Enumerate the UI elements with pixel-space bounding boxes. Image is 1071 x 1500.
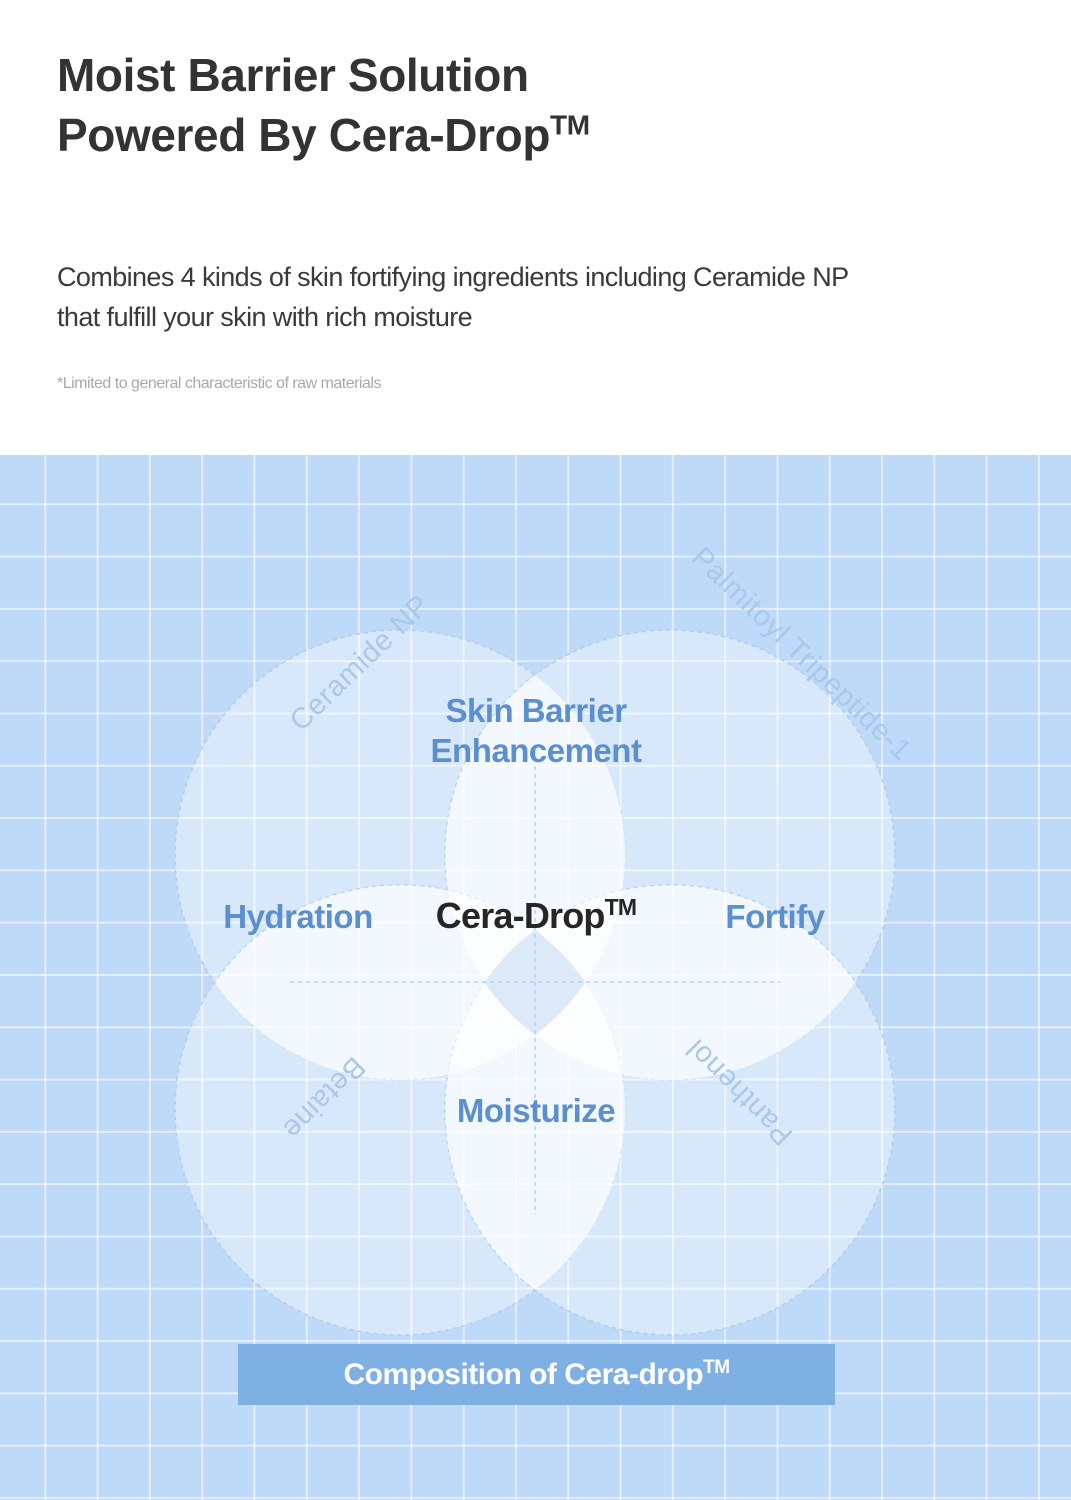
composition-banner: Composition of Cera-dropTM xyxy=(238,1344,835,1405)
trademark-symbol: TM xyxy=(550,109,590,140)
page-footnote: *Limited to general characteristic of ra… xyxy=(57,375,957,393)
page-title-text: Moist Barrier Solution Powered By Cera-D… xyxy=(57,49,550,161)
venn-label-skin-barrier-enhancement: Skin Barrier Enhancement xyxy=(330,691,742,772)
infographic-page: Moist Barrier Solution Powered By Cera-D… xyxy=(0,0,1071,1500)
venn-label-fortify: Fortify xyxy=(655,898,895,936)
page-title: Moist Barrier Solution Powered By Cera-D… xyxy=(57,46,1017,166)
page-subtitle: Combines 4 kinds of skin fortifying ingr… xyxy=(57,258,1017,338)
composition-banner-label: Composition of Cera-dropTM xyxy=(343,1358,729,1392)
venn-label-hydration: Hydration xyxy=(178,898,418,936)
header-section: Moist Barrier Solution Powered By Cera-D… xyxy=(0,0,1071,455)
trademark-symbol: TM xyxy=(605,894,637,920)
banner-label-text: Composition of Cera-drop xyxy=(343,1358,703,1391)
venn-label-moisturize: Moisturize xyxy=(360,1092,712,1130)
diagram-panel: Skin Barrier Enhancement Cera-DropTM Hyd… xyxy=(0,455,1071,1500)
center-label-text: Cera-Drop xyxy=(436,895,605,936)
trademark-symbol: TM xyxy=(703,1357,729,1378)
